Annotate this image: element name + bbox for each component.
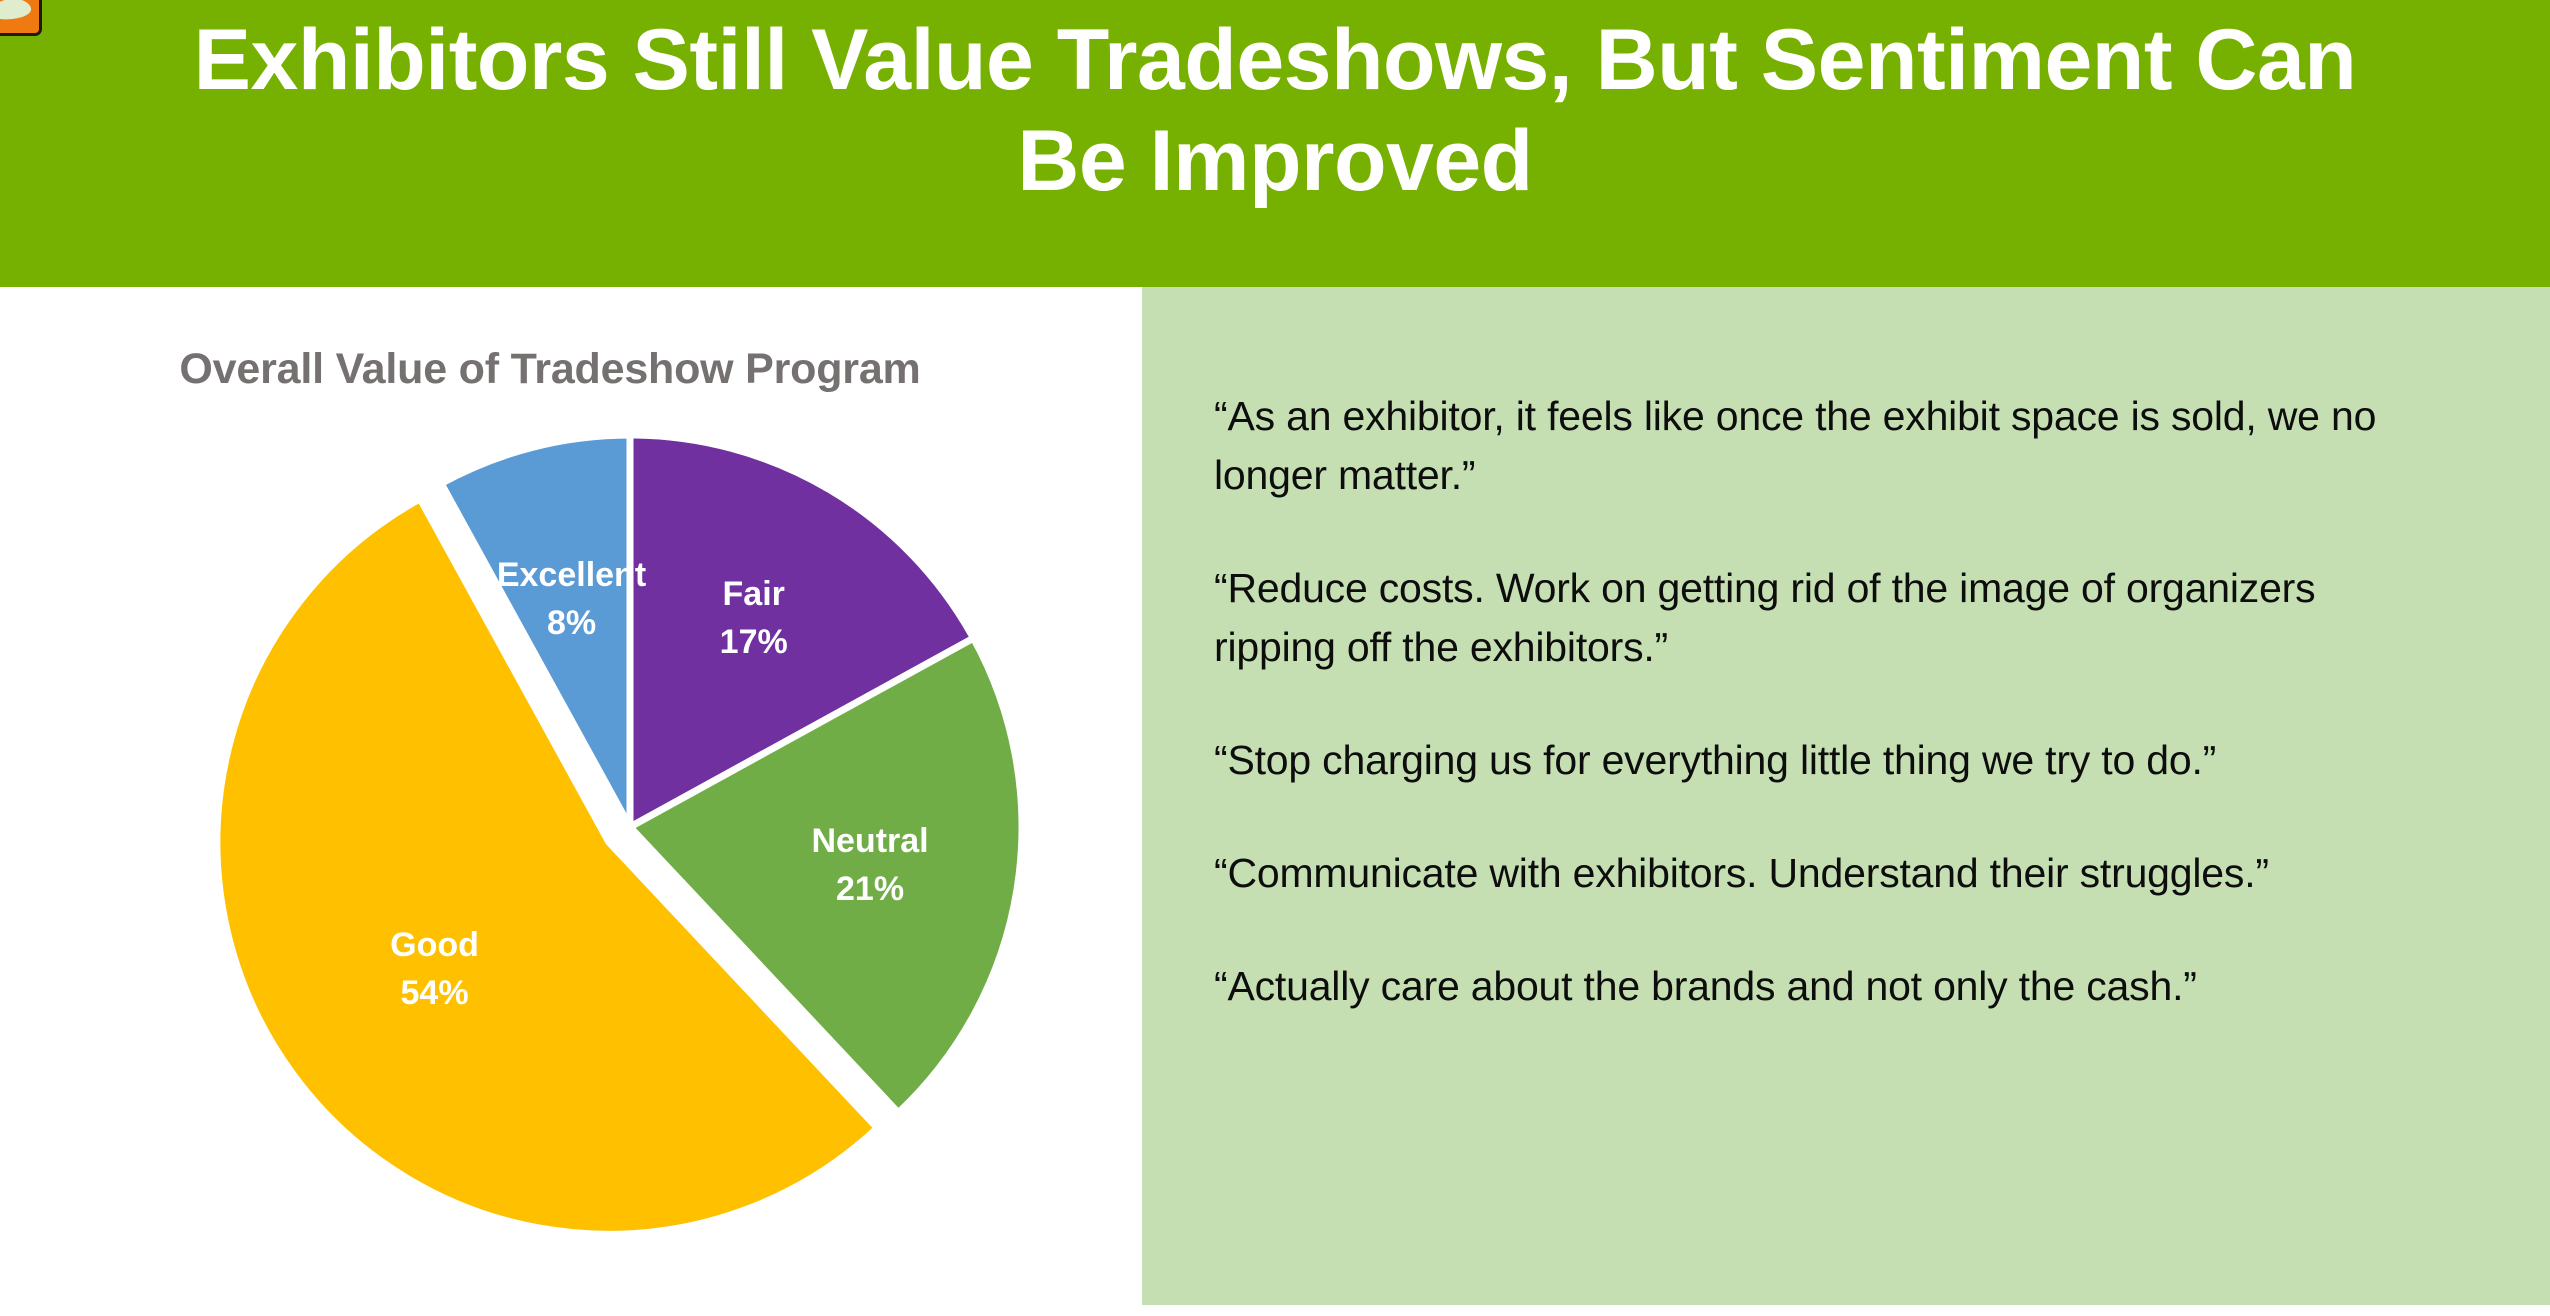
slide-title: Exhibitors Still Value Tradeshows, But S… [40,10,2510,213]
slide-header-band: Exhibitors Still Value Tradeshows, But S… [0,0,2550,287]
pie-slice-value-neutral: 21% [836,870,904,908]
pie-slice-label-excellent: Excellent [497,556,646,594]
pie-slice-value-fair: 17% [720,623,788,661]
quote-item: “Actually care about the brands and not … [1214,957,2444,1016]
speech-bubble-shape [0,0,32,21]
pie-chart-svg: Fair17%Neutral21%Good54%Excellent8% [200,427,1080,1267]
chart-panel: Overall Value of Tradeshow Program Fair1… [0,287,1142,1305]
chart-title: Overall Value of Tradeshow Program [0,345,1100,394]
exhibitor-quotes-panel: “As an exhibitor, it feels like once the… [1142,287,2550,1305]
presentation-slide: Exhibitors Still Value Tradeshows, But S… [0,0,2550,1316]
quote-item: “Stop charging us for everything little … [1214,731,2444,790]
quote-item: “Reduce costs. Work on getting rid of th… [1214,559,2444,677]
speech-bubble-logo-icon [0,0,42,36]
quote-item: “As an exhibitor, it feels like once the… [1214,387,2444,505]
pie-chart: Fair17%Neutral21%Good54%Excellent8% [200,427,1080,1267]
pie-slice-value-excellent: 8% [547,604,596,642]
pie-slice-value-good: 54% [401,974,469,1012]
pie-slice-label-neutral: Neutral [811,822,928,860]
pie-slice-label-fair: Fair [723,575,785,613]
pie-slice-label-good: Good [390,926,479,964]
quote-item: “Communicate with exhibitors. Understand… [1214,844,2444,903]
